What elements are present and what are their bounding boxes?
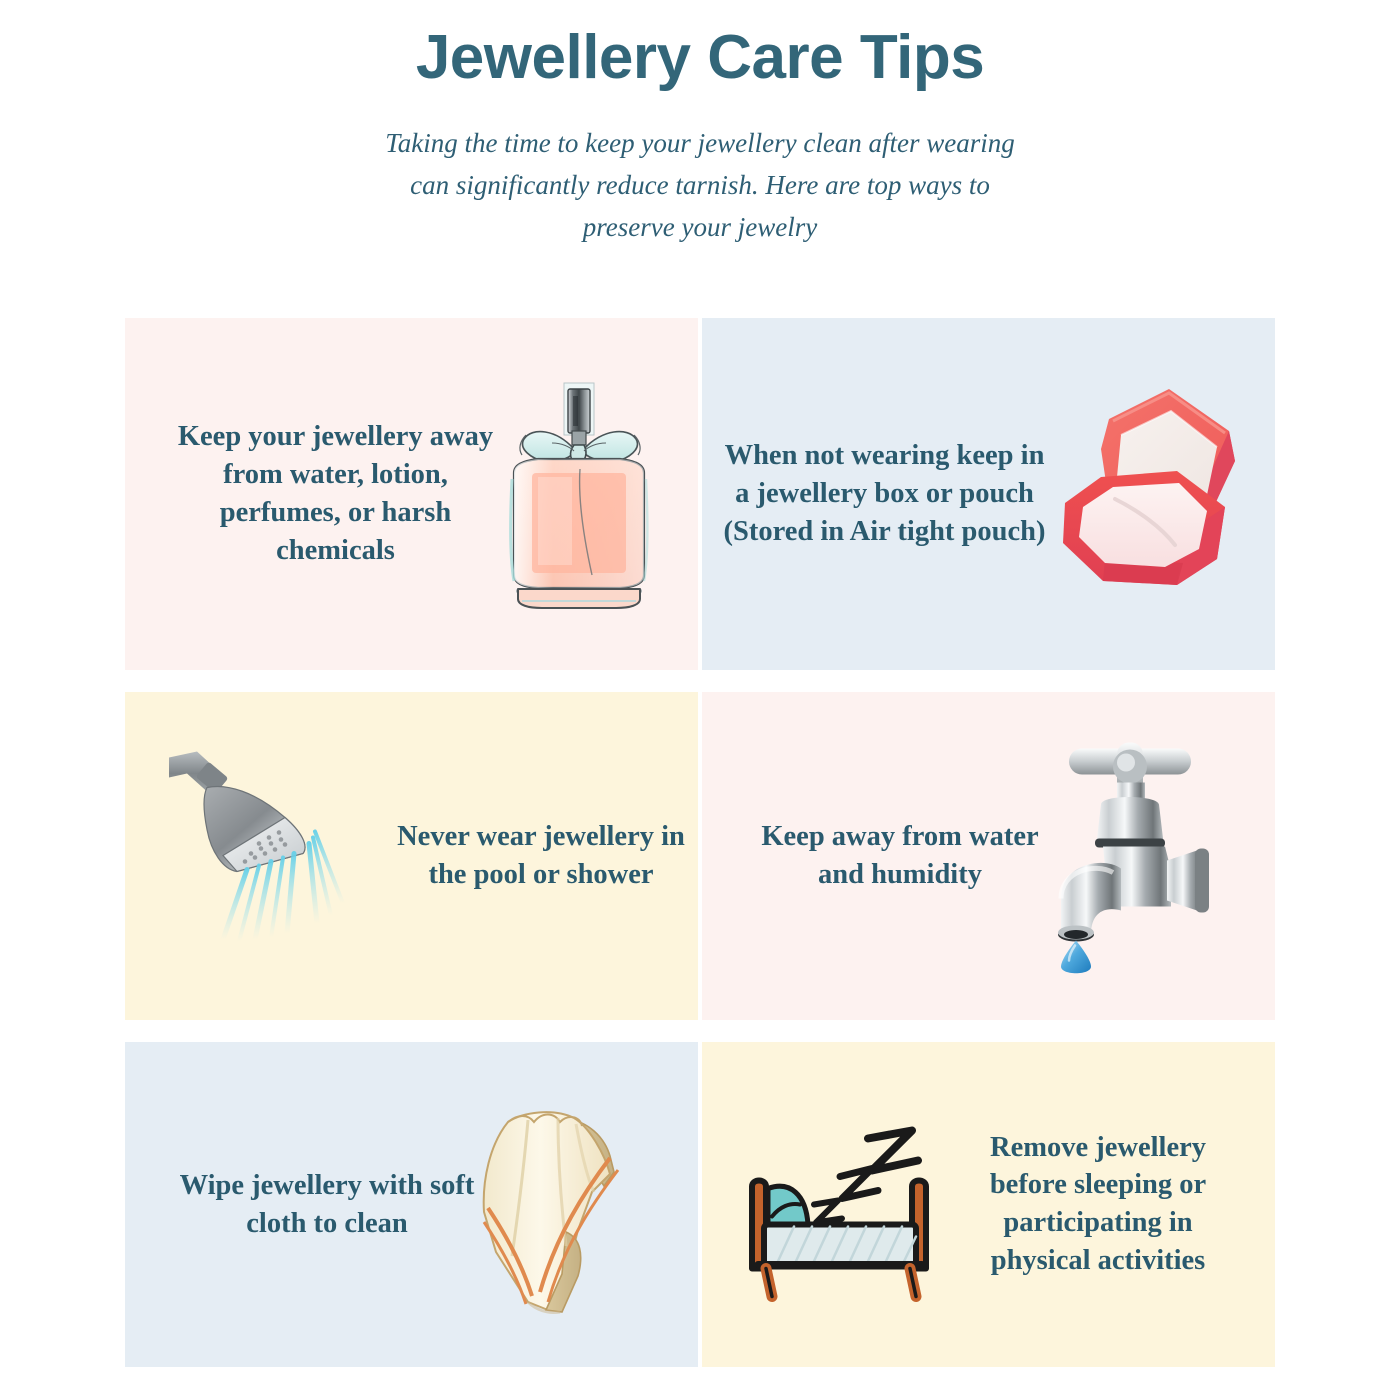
- tip-card-4-text: Keep away from water and humidity: [750, 818, 1050, 894]
- tip-card-5: Wipe jewellery with soft cloth to clean: [125, 1042, 698, 1367]
- ring-box-icon: [1057, 377, 1257, 597]
- page-subtitle: Taking the time to keep your jewellery c…: [380, 123, 1020, 249]
- bed-sleep-icon: [732, 1119, 947, 1304]
- tip-card-3-text: Never wear jewellery in the pool or show…: [396, 818, 686, 894]
- perfume-bottle-icon: [488, 369, 668, 619]
- faucet-icon: [1047, 739, 1227, 974]
- tips-grid: Keep your jewellery away from water, lot…: [125, 318, 1275, 1367]
- tip-card-2-text: When not wearing keep in a jewellery box…: [722, 437, 1047, 551]
- tip-card-6-text: Remove jewellery before sleeping or part…: [953, 1129, 1243, 1281]
- cloth-icon: [470, 1096, 640, 1326]
- shower-head-icon: [163, 744, 373, 949]
- tip-card-5-text: Wipe jewellery with soft cloth to clean: [167, 1167, 487, 1243]
- header: Jewellery Care Tips Taking the time to k…: [0, 0, 1400, 249]
- infographic-page: Jewellery Care Tips Taking the time to k…: [0, 0, 1400, 1400]
- page-title: Jewellery Care Tips: [0, 22, 1400, 93]
- tip-card-2: When not wearing keep in a jewellery box…: [702, 318, 1275, 670]
- tip-card-1-text: Keep your jewellery away from water, lot…: [163, 418, 508, 570]
- tip-card-4: Keep away from water and humidity: [702, 692, 1275, 1020]
- tip-card-3: Never wear jewellery in the pool or show…: [125, 692, 698, 1020]
- tip-card-1: Keep your jewellery away from water, lot…: [125, 318, 698, 670]
- tip-card-6: Remove jewellery before sleeping or part…: [702, 1042, 1275, 1367]
